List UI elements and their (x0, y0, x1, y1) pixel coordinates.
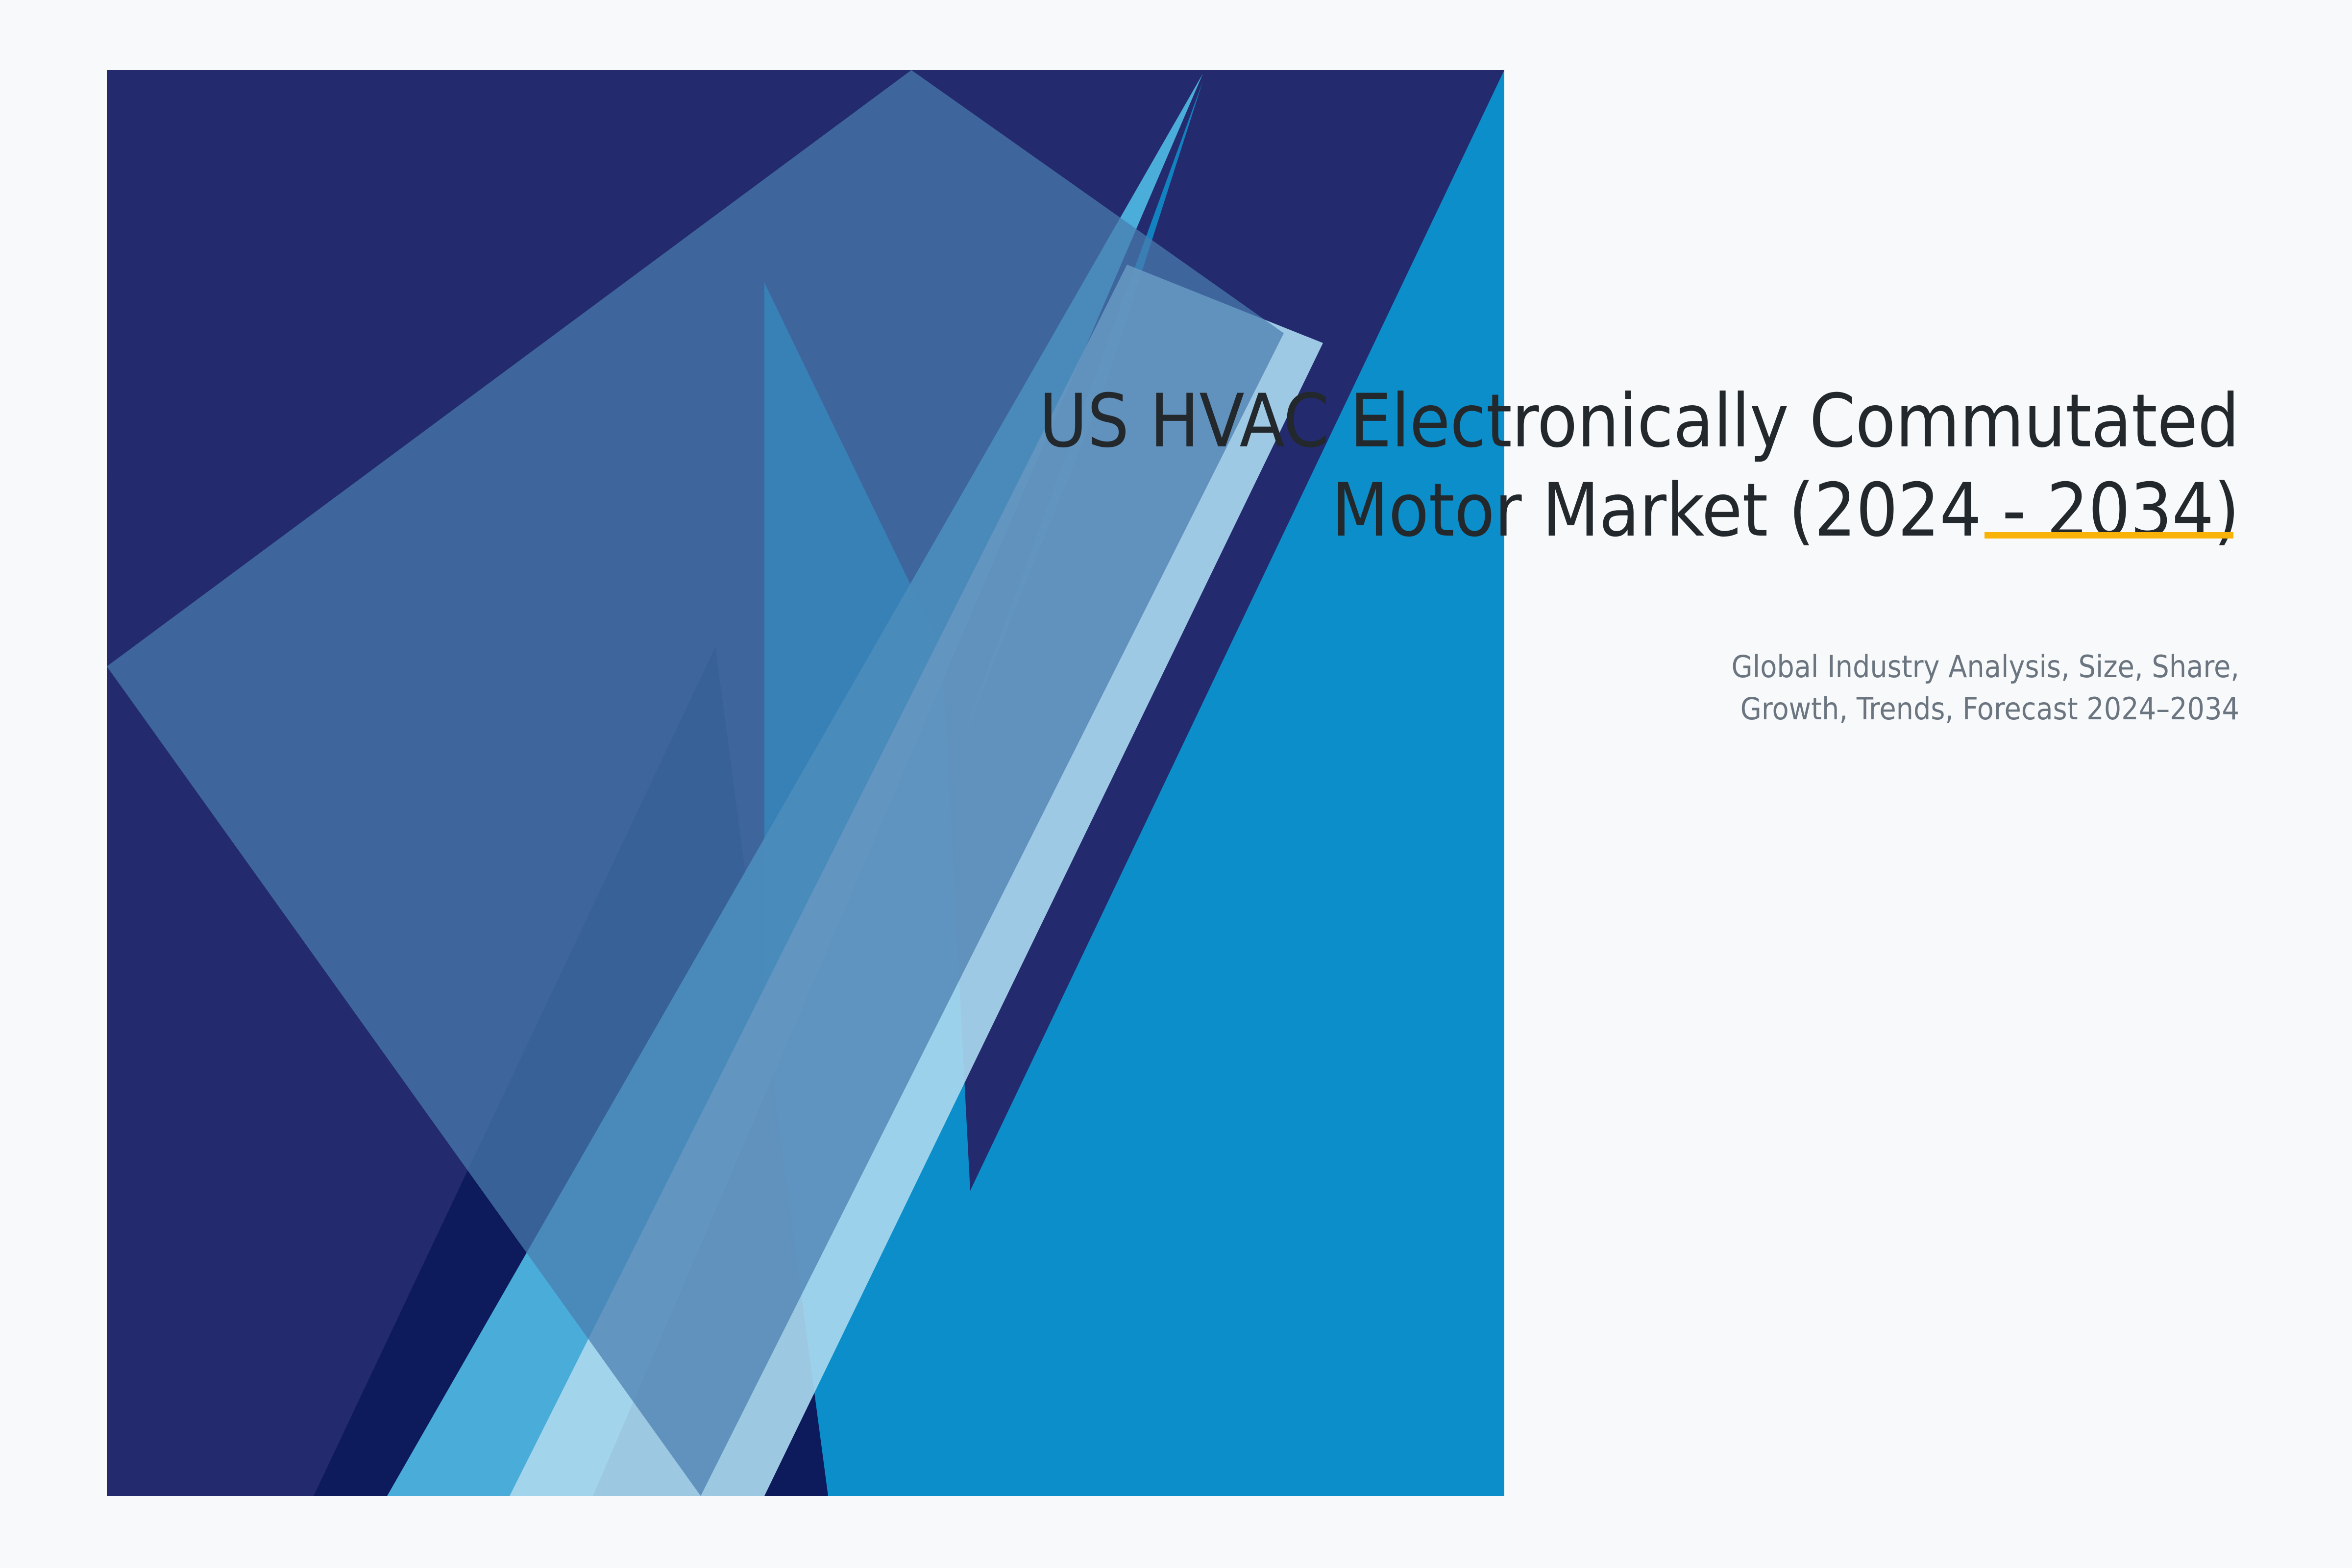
cover-page: US HVAC Electronically Commutated Motor … (0, 0, 2352, 1568)
abstract-geometric-artwork (0, 0, 2352, 1568)
title-block: US HVAC Electronically Commutated Motor … (769, 377, 2239, 555)
page-title: US HVAC Electronically Commutated Motor … (769, 377, 2239, 555)
shape-cyan-light-band (387, 73, 1203, 1496)
shape-navy-body (107, 70, 764, 1496)
shape-navy-wedge-left (107, 70, 715, 539)
shape-navy-top-triangle-b (911, 70, 1504, 1191)
title-accent-underline (1984, 532, 2233, 539)
shape-slate-overlay (107, 70, 1284, 1496)
shape-navy-deep-wedge (314, 647, 828, 1496)
shape-cyan-block (107, 70, 1504, 1496)
page-subtitle: Global Industry Analysis, Size, Share, G… (769, 646, 2239, 730)
